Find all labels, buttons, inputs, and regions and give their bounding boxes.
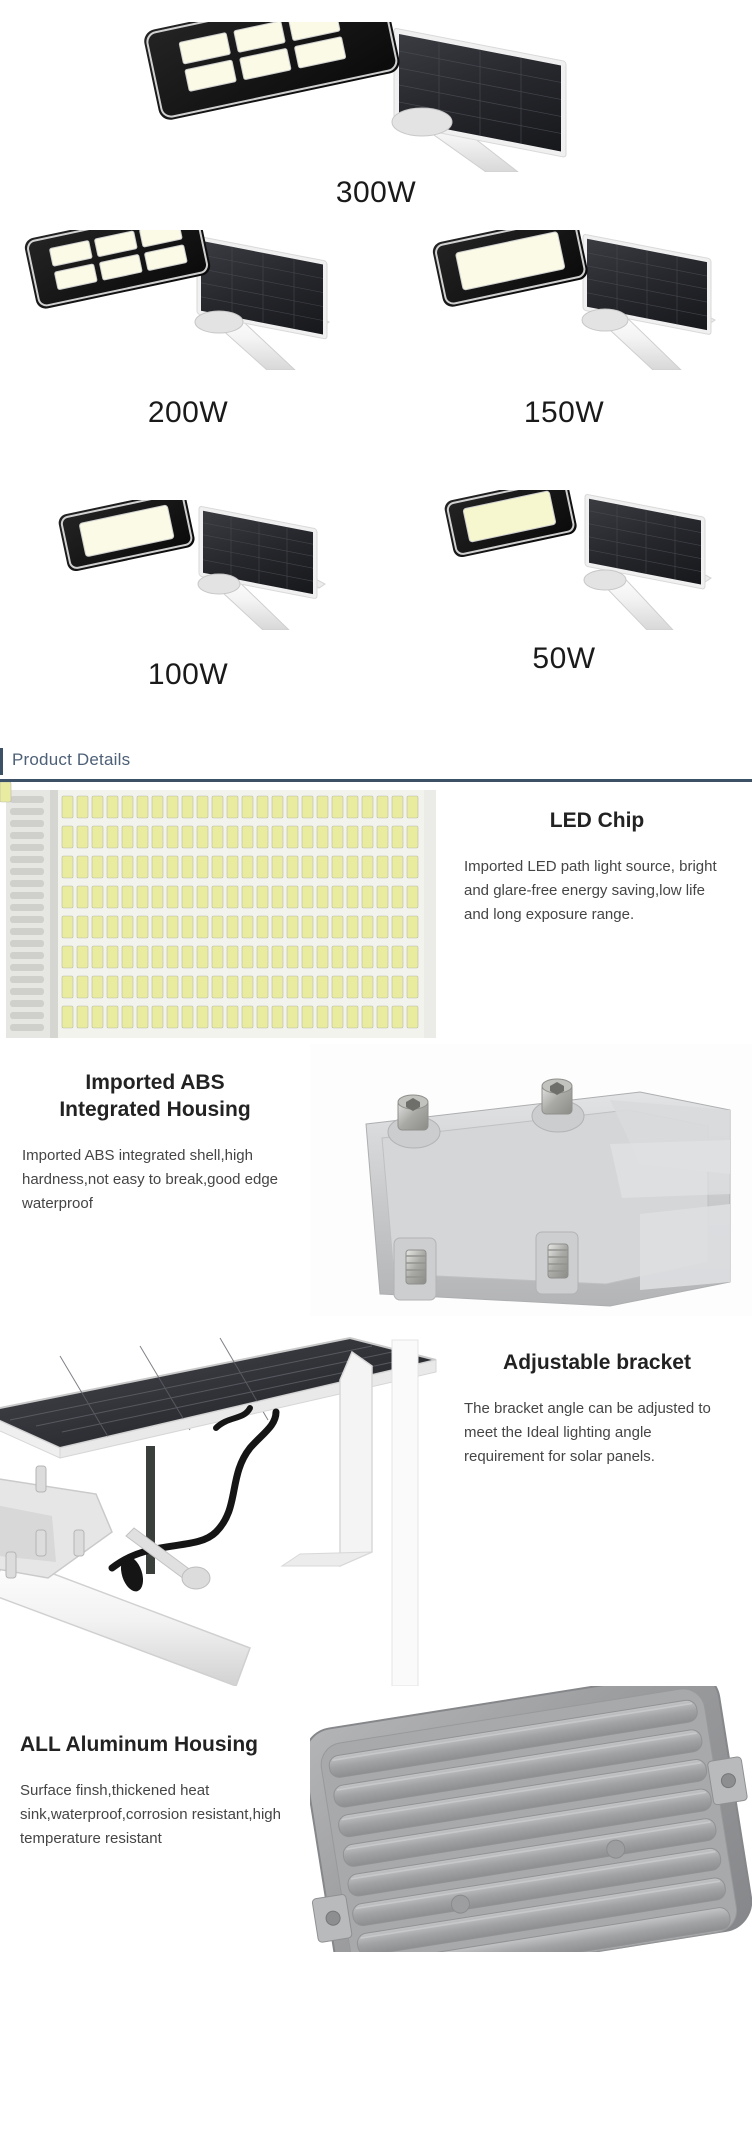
detail-title: LED Chip (464, 808, 730, 835)
variant-watt-label: 300W (116, 178, 636, 208)
detail-text-led-chip: LED Chip Imported LED path light source,… (442, 782, 752, 1044)
detail-text-abs-housing: Imported ABS Integrated Housing Imported… (0, 1044, 310, 1316)
variant-300w[interactable]: 300W (116, 8, 636, 220)
detail-text-adjustable-bracket: Adjustable bracket The bracket angle can… (442, 1316, 752, 1686)
solar-street-light-illustration (399, 490, 729, 630)
detail-block-adjustable-bracket: Adjustable bracket The bracket angle can… (0, 1316, 752, 1686)
variant-row-1: 300W (0, 8, 752, 220)
detail-title: ALL Aluminum Housing (20, 1732, 288, 1759)
solar-street-light-illustration (389, 230, 739, 370)
variant-watt-label: 200W (0, 398, 376, 428)
detail-body: The bracket angle can be adjusted to mee… (464, 1397, 730, 1470)
solar-street-light-illustration (13, 230, 363, 370)
led-chip-array-image (0, 782, 442, 1044)
detail-body: Imported LED path light source, bright a… (464, 855, 730, 928)
variant-100w[interactable]: 100W (0, 470, 376, 730)
variant-200w[interactable]: 200W (0, 220, 376, 470)
detail-text-aluminum-housing: ALL Aluminum Housing Surface finsh,thick… (0, 1686, 310, 1952)
page-title: Product Details (12, 750, 130, 769)
detail-body: Imported ABS integrated shell,high hardn… (22, 1144, 288, 1217)
variant-watt-label: 100W (0, 660, 376, 690)
detail-title: Imported ABS Integrated Housing (22, 1070, 288, 1124)
solar-street-light-illustration (23, 500, 353, 630)
product-details-section-header: Product Details (0, 740, 752, 782)
detail-title: Adjustable bracket (464, 1350, 730, 1377)
solar-street-light-illustration (126, 22, 626, 172)
product-detail-page: 300W (0, 0, 752, 2146)
detail-block-abs-housing: Imported ABS Integrated Housing Imported… (0, 1044, 752, 1316)
variant-row-3: 100W (0, 470, 752, 730)
variant-watt-label: 150W (376, 398, 752, 428)
adjustable-bracket-image (0, 1316, 442, 1686)
detail-block-aluminum-housing: ALL Aluminum Housing Surface finsh,thick… (0, 1686, 752, 1952)
aluminum-housing-image (310, 1686, 752, 1952)
variant-row-2: 200W (0, 220, 752, 470)
variant-150w[interactable]: 150W (376, 220, 752, 470)
abs-housing-image (310, 1044, 752, 1316)
detail-block-led-chip: LED Chip Imported LED path light source,… (0, 782, 752, 1044)
variant-watt-label: 50W (376, 644, 752, 674)
detail-body: Surface finsh,thickened heat sink,waterp… (20, 1779, 288, 1852)
product-variants-gallery: 300W (0, 0, 752, 730)
variant-50w[interactable]: 50W (376, 470, 752, 730)
